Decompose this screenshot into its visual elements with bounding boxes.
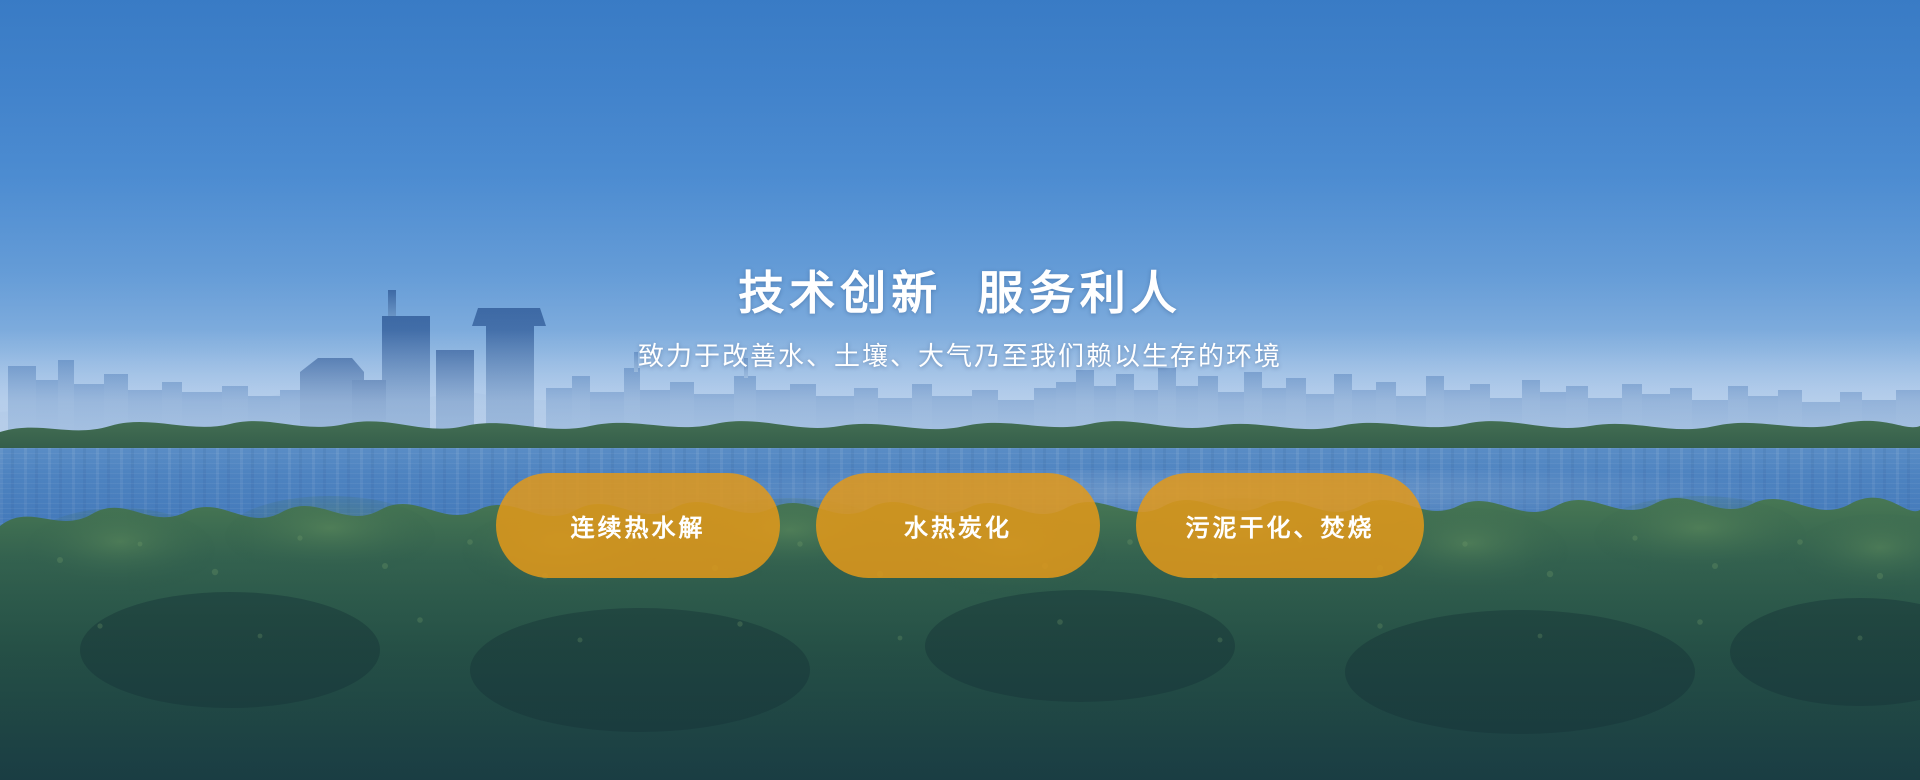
hero-button-sludge-drying-incineration[interactable]: 污泥干化、焚烧 — [1136, 473, 1424, 578]
hero-button-continuous-thermal-hydrolysis[interactable]: 连续热水解 — [496, 473, 780, 578]
hero-banner: 技术创新 服务利人 致力于改善水、土壤、大气乃至我们赖以生存的环境 连续热水解 … — [0, 0, 1920, 780]
hero-button-hydrothermal-carbonization[interactable]: 水热炭化 — [816, 473, 1100, 578]
hero-button-row: 连续热水解 水热炭化 污泥干化、焚烧 — [496, 473, 1424, 578]
